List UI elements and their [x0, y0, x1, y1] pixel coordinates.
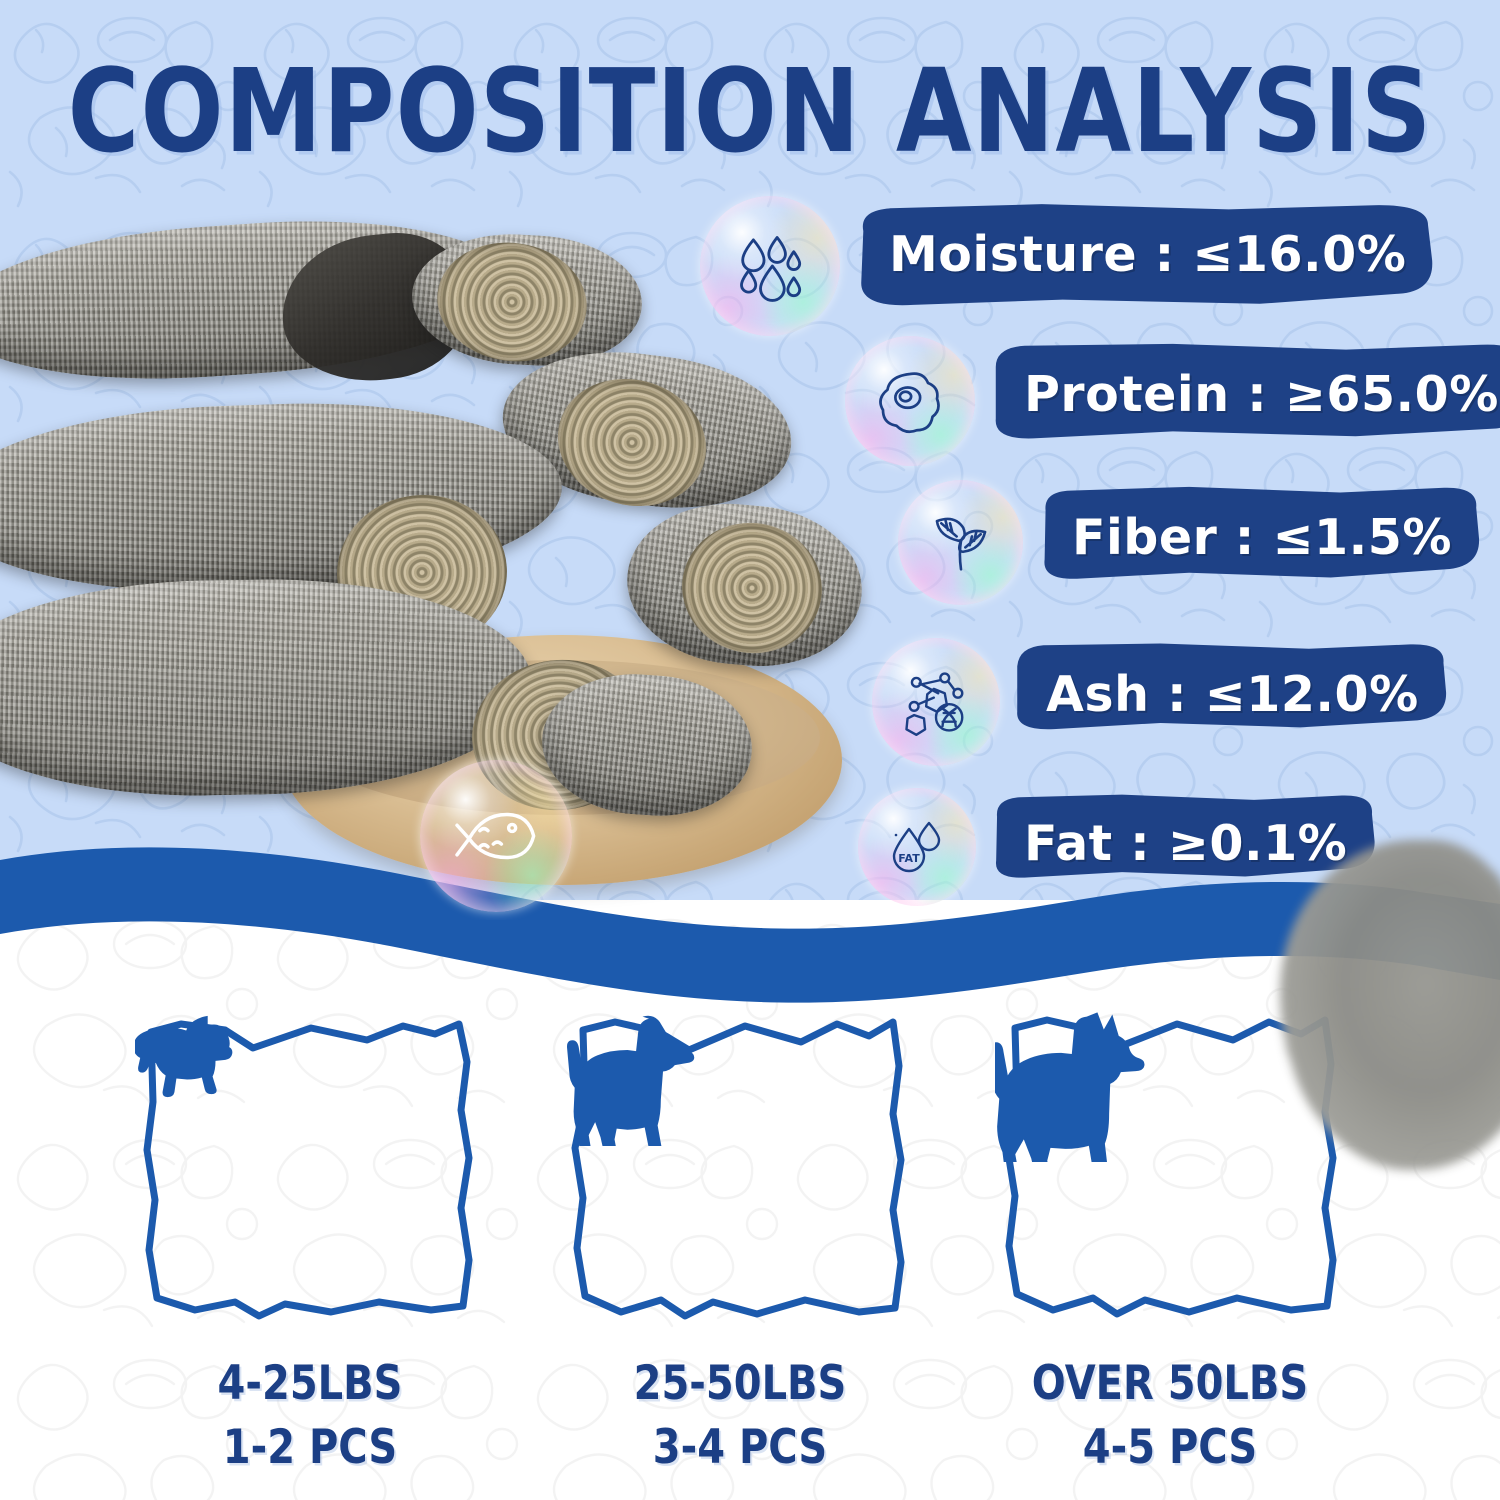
- sketch-frame: [565, 1010, 915, 1330]
- nutrition-label-moisture: Moisture : ≤16.0%: [855, 200, 1436, 308]
- feeding-card-text: 25-50LBS 3-4 PCS: [565, 1352, 915, 1479]
- large-dog-icon: [995, 1010, 1155, 1162]
- molecule-icon: [901, 667, 971, 737]
- serving-amount: 3-4 PCS: [565, 1416, 915, 1480]
- fish-icon: [453, 793, 539, 879]
- water-drops-icon-bubble: [700, 196, 840, 336]
- feeding-card-text: 4-25LBS 1-2 PCS: [135, 1352, 485, 1479]
- serving-amount: 4-5 PCS: [995, 1416, 1345, 1480]
- nutrition-label-ash: Ash : ≤12.0%: [1012, 640, 1449, 748]
- wave-divider: [0, 820, 1500, 1020]
- medium-dog-icon: [565, 1010, 705, 1146]
- feeding-card-small[interactable]: 4-25LBS 1-2 PCS: [135, 1010, 485, 1460]
- nutrition-label-protein: Protein : ≥65.0%: [990, 340, 1500, 448]
- composition-section: COMPOSITION ANALYSIS: [0, 0, 1500, 920]
- weight-range: OVER 50LBS: [1032, 1357, 1308, 1411]
- fried-egg-icon-bubble: [845, 336, 975, 466]
- feeding-guide-cards: 4-25LBS 1-2 PCS 25-50LBS 3-4 PCS: [0, 1000, 1500, 1480]
- leaf-plant-icon-bubble: [898, 480, 1023, 605]
- small-dog-slot: [135, 1010, 485, 1330]
- leaf-plant-icon: [926, 508, 996, 578]
- feeding-card-medium[interactable]: 25-50LBS 3-4 PCS: [565, 1010, 915, 1460]
- molecule-icon-bubble: [872, 638, 1000, 766]
- serving-amount: 1-2 PCS: [135, 1416, 485, 1480]
- fish-bubble: [420, 760, 572, 912]
- nutrition-label-fiber: Fiber : ≤1.5%: [1038, 484, 1482, 590]
- feeding-card-text: OVER 50LBS 4-5 PCS: [995, 1352, 1345, 1479]
- medium-dog-slot: [565, 1010, 915, 1330]
- feeding-card-large[interactable]: OVER 50LBS 4-5 PCS: [995, 1010, 1345, 1460]
- small-dog-icon: [135, 1010, 253, 1100]
- weight-range: 4-25LBS: [218, 1357, 403, 1411]
- water-drops-icon: [732, 228, 808, 304]
- page-title: COMPOSITION ANALYSIS: [0, 46, 1500, 179]
- infographic-canvas: COMPOSITION ANALYSIS: [0, 0, 1500, 1500]
- fried-egg-icon: [874, 365, 946, 437]
- weight-range: 25-50LBS: [634, 1357, 847, 1411]
- sketch-frame: [135, 1010, 485, 1330]
